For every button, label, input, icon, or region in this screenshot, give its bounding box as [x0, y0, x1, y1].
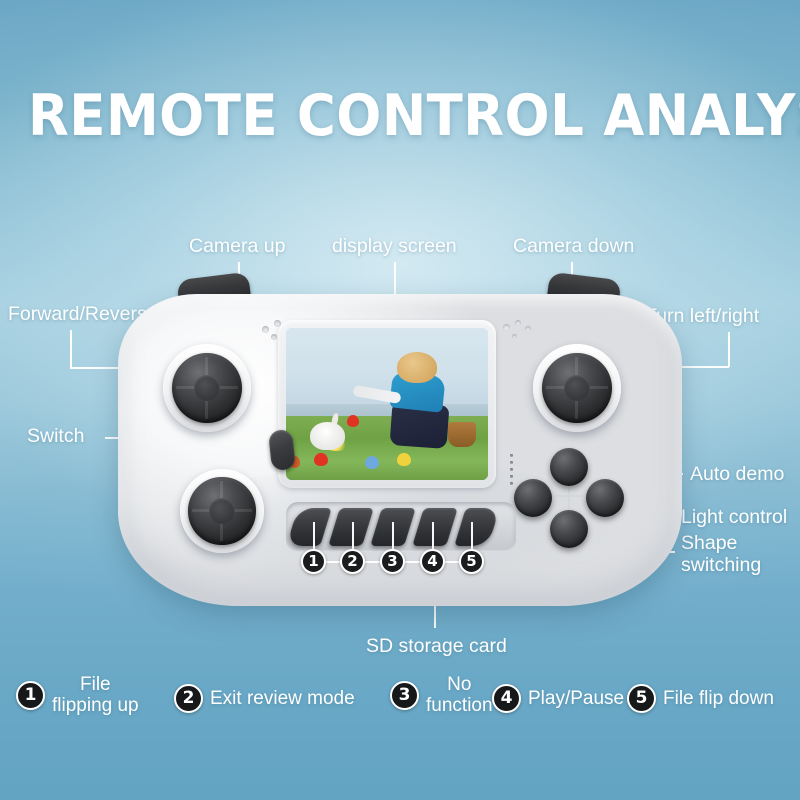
leader-forward-reverse-v — [70, 330, 72, 368]
legend-item-5: 5 File flip down — [627, 684, 774, 713]
function-key-4[interactable] — [412, 508, 458, 546]
function-key-2[interactable] — [328, 508, 374, 546]
joystick-cap — [542, 353, 612, 423]
key-badge-4: 4 — [420, 549, 445, 574]
legend-item-4: 4 Play/Pause — [492, 684, 624, 713]
callout-shape-switching-line1: Shape — [681, 532, 737, 554]
joystick-cap — [188, 477, 255, 544]
callout-light-control: Light control — [681, 506, 787, 528]
auto-demo-button[interactable] — [550, 448, 588, 486]
key-badge-3: 3 — [380, 549, 405, 574]
legend-label-2: Exit review mode — [210, 688, 355, 709]
callout-camera-up: Camera up — [189, 235, 285, 257]
extra-button-left[interactable] — [514, 479, 552, 517]
callout-sd-storage-card: SD storage card — [366, 635, 507, 657]
joystick-forward-reverse[interactable] — [163, 344, 251, 432]
legend-badge-4: 4 — [492, 684, 521, 713]
legend-item-1: 1 File flipping up — [16, 674, 139, 716]
screen-egg-held — [347, 415, 359, 427]
joystick-cap — [172, 353, 242, 423]
screen-image — [286, 328, 488, 480]
joystick-hub — [194, 375, 221, 402]
legend-badge-1: 1 — [16, 681, 45, 710]
screen-basket — [448, 422, 476, 446]
joystick-hub — [209, 498, 235, 524]
legend-label-5: File flip down — [663, 688, 774, 709]
function-key-tray — [286, 502, 516, 552]
leader-key-1 — [313, 522, 315, 550]
leader-key-2 — [352, 522, 354, 550]
shape-switching-button[interactable] — [550, 510, 588, 548]
leader-key-5 — [471, 522, 473, 550]
light-control-button[interactable] — [586, 479, 624, 517]
function-key-1[interactable] — [286, 508, 332, 546]
legend-label-1-line1: File — [52, 674, 139, 695]
legend-label-1-line2: flipping up — [52, 695, 139, 716]
page-title: REMOTE CONTROL ANALYSIS — [28, 88, 772, 145]
legend-label-3-line2: function — [426, 695, 493, 716]
legend-label-1: File flipping up — [52, 674, 139, 716]
leader-key-3 — [392, 522, 394, 550]
legend-item-3: 3 No function — [390, 674, 493, 716]
key-badge-5: 5 — [459, 549, 484, 574]
function-key-5[interactable] — [454, 508, 500, 546]
joystick-turn-left-right[interactable] — [533, 344, 621, 432]
legend-label-3: No function — [426, 674, 493, 716]
legend-badge-5: 5 — [627, 684, 656, 713]
legend-label-4: Play/Pause — [528, 688, 624, 709]
screen-egg-yellow — [397, 453, 411, 467]
callout-shape-switching-line2: switching — [681, 554, 761, 576]
callout-switch: Switch — [27, 425, 84, 447]
legend-item-2: 2 Exit review mode — [174, 684, 355, 713]
screen-egg-red — [314, 453, 328, 467]
leader-turn-v — [728, 332, 730, 367]
poster-canvas: REMOTE CONTROL ANALYSIS Camera up displa… — [0, 0, 800, 800]
key-badge-2: 2 — [340, 549, 365, 574]
legend-badge-2: 2 — [174, 684, 203, 713]
legend-badge-3: 3 — [390, 681, 419, 710]
screen-rabbit — [310, 422, 344, 449]
leader-key-4 — [432, 522, 434, 550]
legend-label-3-line1: No — [426, 674, 493, 695]
callout-auto-demo: Auto demo — [690, 463, 784, 485]
dpad-crosshair — [555, 482, 583, 510]
key-badge-1: 1 — [301, 549, 326, 574]
display-screen[interactable] — [278, 320, 496, 488]
vent-dots-right — [503, 320, 543, 346]
joystick-lower-left[interactable] — [180, 469, 264, 553]
joystick-hub — [564, 375, 591, 402]
callout-camera-down: Camera down — [513, 235, 634, 257]
legend-row: 1 File flipping up 2 Exit review mode 3 … — [0, 668, 800, 720]
screen-egg-blue — [365, 456, 379, 470]
callout-display-screen: display screen — [332, 235, 457, 257]
screen-child-head — [397, 352, 437, 382]
